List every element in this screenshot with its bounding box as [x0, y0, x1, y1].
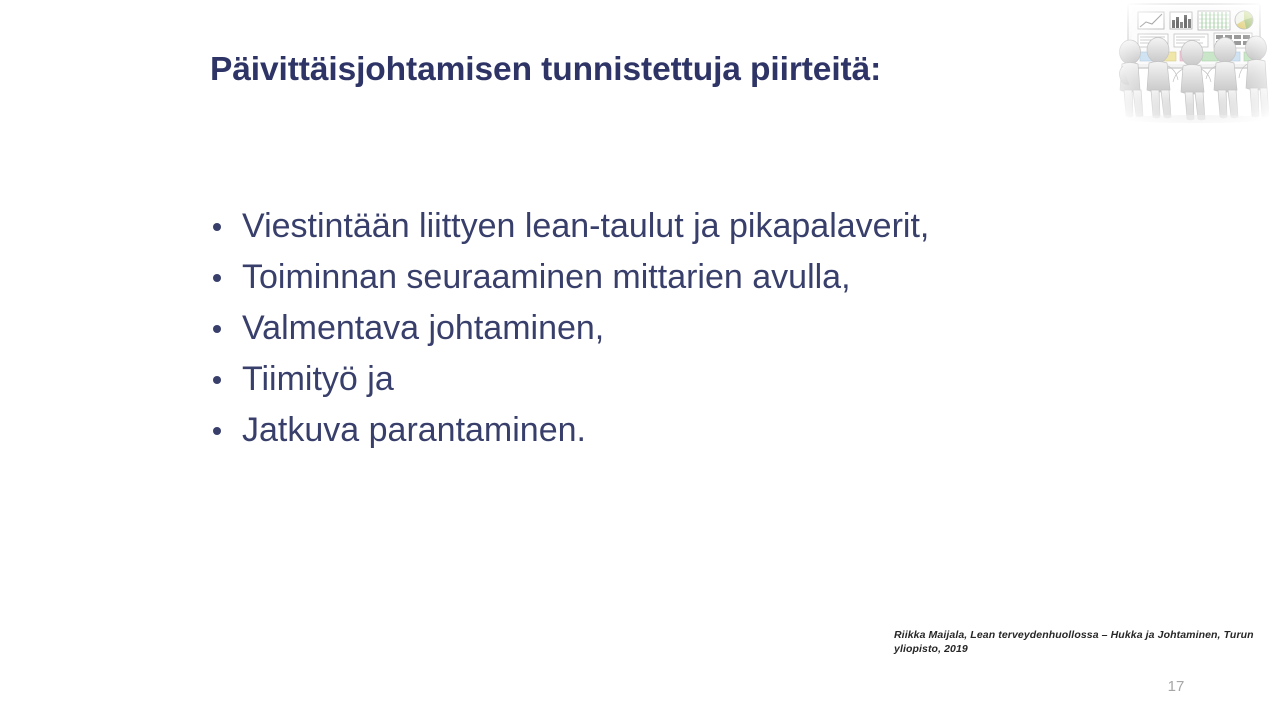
page-number: 17: [1148, 678, 1204, 695]
bullet-dot-icon: [213, 223, 221, 231]
list-item: Viestintään liittyen lean-taulut ja pika…: [200, 204, 1150, 255]
slide-canvas: Päivittäisjohtamisen tunnistettuja piirt…: [0, 0, 1280, 720]
list-item-label: Valmentava johtaminen,: [242, 306, 604, 350]
list-item-label: Toiminnan seuraaminen mittarien avulla,: [242, 255, 851, 299]
list-item: Valmentava johtaminen,: [200, 306, 1150, 357]
bullet-dot-icon: [213, 376, 221, 384]
list-item-label: Tiimityö ja: [242, 357, 394, 401]
list-item: Toiminnan seuraaminen mittarien avulla,: [200, 255, 1150, 306]
team-at-lean-board-graphic: [1110, 0, 1280, 124]
page-title: Päivittäisjohtamisen tunnistettuja piirt…: [210, 51, 1090, 90]
bullet-dot-icon: [213, 427, 221, 435]
citation-line-1: Riikka Maijala, Lean terveydenhuollossa …: [894, 629, 1221, 641]
source-citation: Riikka Maijala, Lean terveydenhuollossa …: [894, 629, 1266, 656]
list-item-label: Jatkuva parantaminen.: [242, 408, 586, 452]
bullet-dot-icon: [213, 274, 221, 282]
list-item-label: Viestintään liittyen lean-taulut ja pika…: [242, 204, 929, 248]
bullet-dot-icon: [213, 325, 221, 333]
bullet-list: Viestintään liittyen lean-taulut ja pika…: [200, 204, 1150, 459]
list-item: Tiimityö ja: [200, 357, 1150, 408]
team-at-lean-board-illustration: [1110, 0, 1280, 124]
list-item: Jatkuva parantaminen.: [200, 408, 1150, 459]
